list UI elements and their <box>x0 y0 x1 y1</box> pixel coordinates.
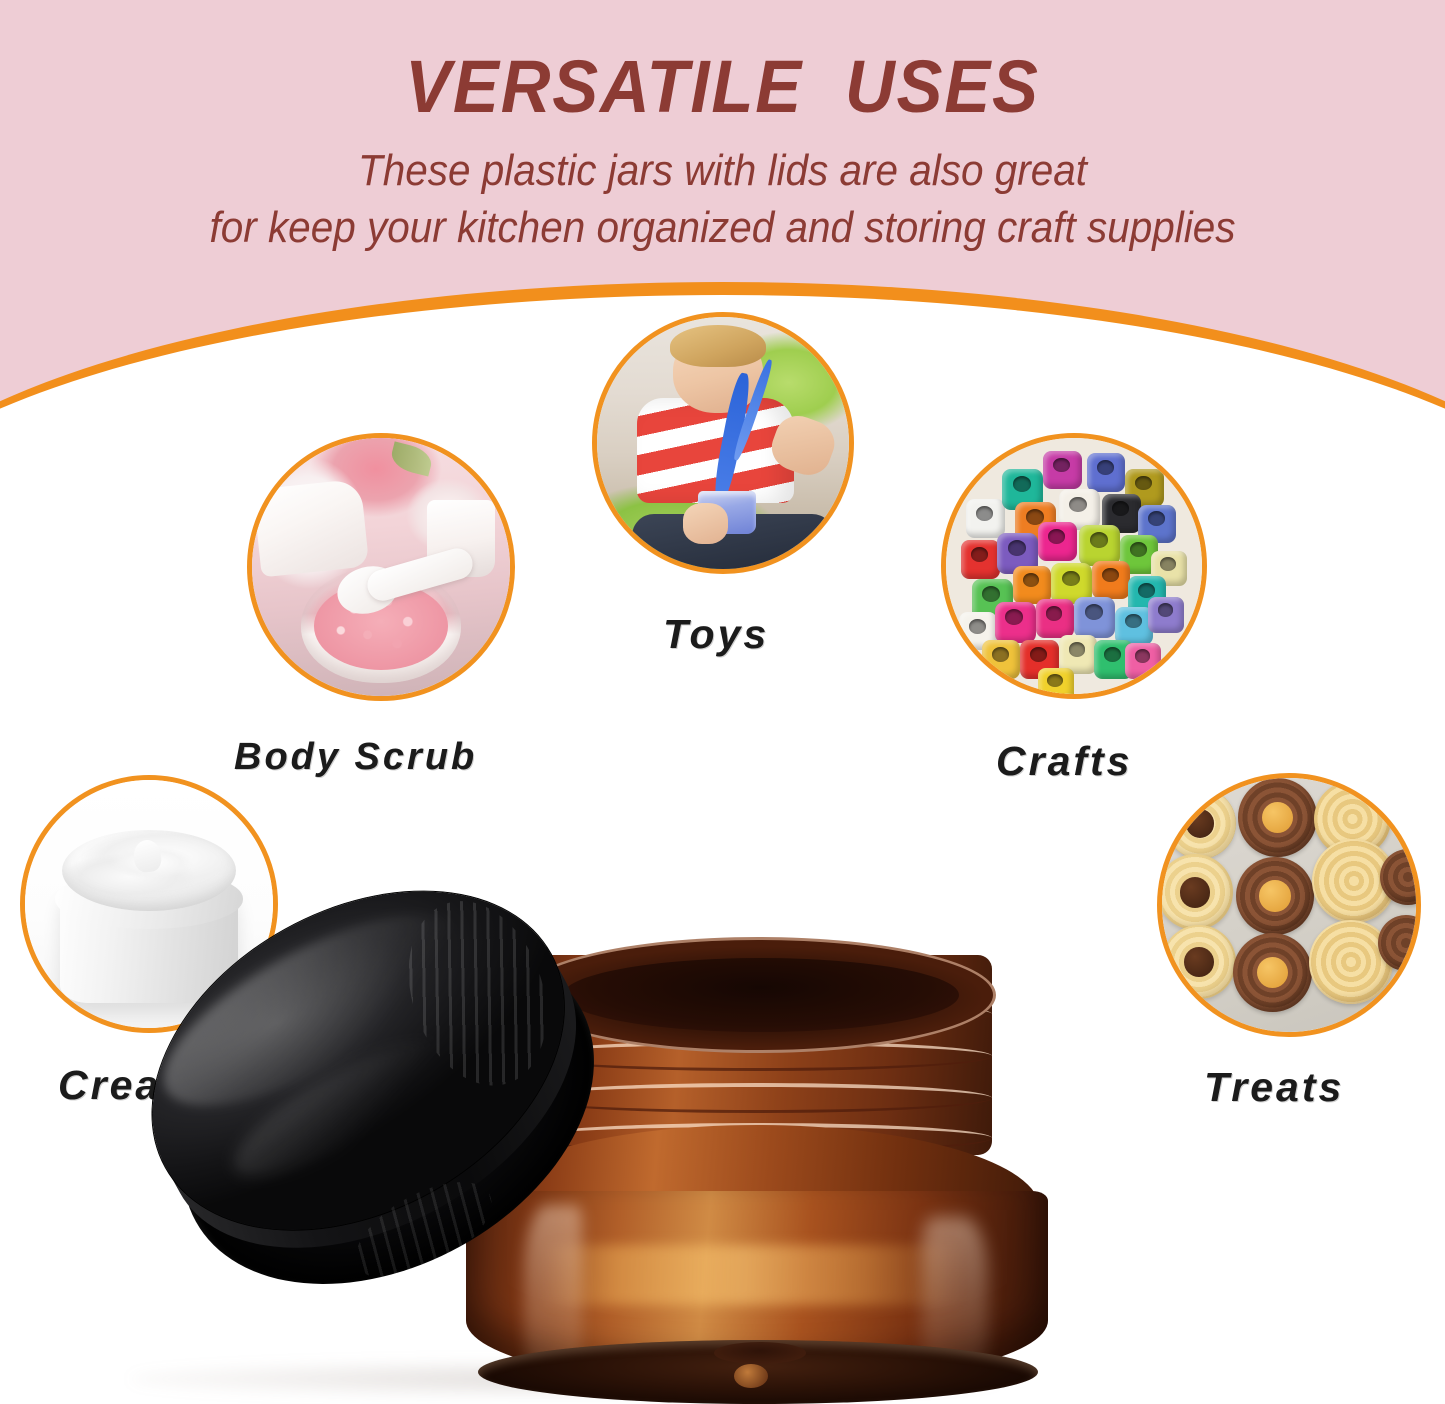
cookie-choc-rosette <box>1233 933 1312 1012</box>
page-subtitle: These plastic jars with lids are also gr… <box>58 142 1387 256</box>
body-scrub-photo <box>252 438 510 696</box>
jar-base-dimple <box>714 1342 806 1364</box>
bead <box>1092 561 1130 599</box>
use-case-label-body-scrub: Body Scrub <box>234 736 477 779</box>
bead <box>1036 599 1074 637</box>
bead <box>1125 643 1161 679</box>
cookie-vanilla-flower <box>1162 925 1236 999</box>
cookie-center-dot <box>1257 957 1288 988</box>
bead <box>982 640 1020 678</box>
hand-shape <box>683 503 728 543</box>
use-case-badge-body-scrub[interactable] <box>247 433 515 701</box>
cookie-vanilla-flower <box>1157 854 1233 930</box>
jar-base-nub <box>734 1364 768 1388</box>
cookie-center-dot <box>1186 809 1214 837</box>
use-case-badge-treats[interactable] <box>1157 773 1421 1037</box>
leaf-shape <box>389 441 435 476</box>
bead <box>1087 453 1125 491</box>
use-case-badge-crafts[interactable] <box>941 433 1207 699</box>
cookie-center-dot <box>1262 802 1293 833</box>
cookie-center-dot <box>1184 947 1213 976</box>
bead <box>1074 597 1115 638</box>
towel-shape <box>253 479 370 578</box>
bead <box>995 602 1036 643</box>
bead <box>1079 525 1120 566</box>
jar-mouth-interior <box>563 958 959 1032</box>
cookie-choc-rosette <box>1238 778 1317 857</box>
bead <box>1148 597 1184 633</box>
cookie-center-dot <box>1180 877 1210 907</box>
bead <box>1038 668 1074 699</box>
page-title: VERSATILE USES <box>51 44 1395 129</box>
use-case-badge-toys[interactable] <box>592 312 854 574</box>
subtitle-line-1: These plastic jars with lids are also gr… <box>58 142 1387 199</box>
subtitle-line-2: for keep your kitchen organized and stor… <box>58 199 1387 256</box>
bead <box>966 499 1004 537</box>
bead <box>1043 451 1081 489</box>
use-case-label-crafts: Crafts <box>996 738 1132 785</box>
treats-photo <box>1162 778 1416 1032</box>
bead <box>961 540 999 578</box>
use-case-label-treats: Treats <box>1204 1064 1344 1111</box>
cookie-vanilla-flower <box>1165 788 1236 859</box>
jar-highlight-band <box>542 1245 962 1305</box>
crafts-photo <box>946 438 1202 694</box>
toys-photo <box>597 317 849 569</box>
versatile-uses-poster: VERSATILE USES These plastic jars with l… <box>0 0 1445 1404</box>
bead <box>1038 522 1076 560</box>
cookie-choc-rosette <box>1236 857 1315 936</box>
cookie-center-dot <box>1259 880 1290 911</box>
use-case-label-toys: Toys <box>663 611 769 658</box>
hair-shape <box>670 325 766 368</box>
